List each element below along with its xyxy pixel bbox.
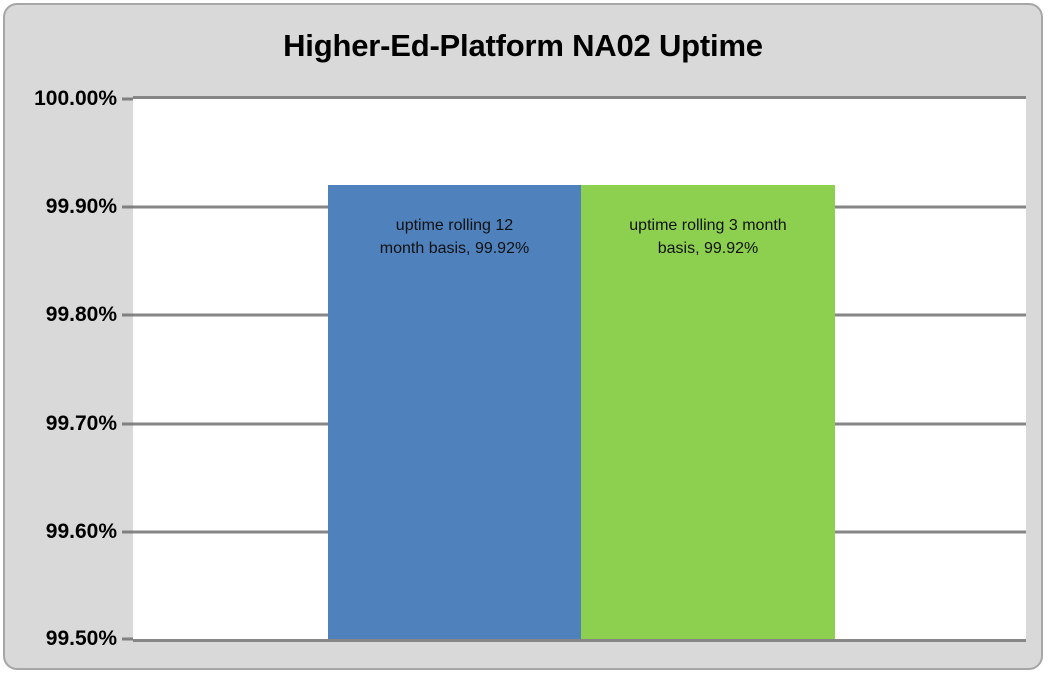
y-axis-tick-mark	[122, 638, 133, 641]
plot-area: uptime rolling 12 month basis, 99.92% up…	[133, 96, 1026, 642]
chart-title: Higher-Ed-Platform NA02 Uptime	[5, 28, 1041, 64]
y-axis-tick-label: 99.90%	[7, 195, 117, 219]
y-axis-tick-mark	[122, 314, 133, 317]
y-axis-tick-mark	[122, 206, 133, 209]
y-axis-tick-label: 99.80%	[7, 303, 117, 327]
bar-uptime-rolling-3-month[interactable]: uptime rolling 3 month basis, 99.92%	[581, 185, 835, 639]
y-axis-tick-label: 99.70%	[7, 412, 117, 436]
bar-uptime-rolling-12-month[interactable]: uptime rolling 12 month basis, 99.92%	[328, 185, 581, 639]
bar-data-label: uptime rolling 3 month basis, 99.92%	[581, 214, 835, 260]
y-axis-tick-label: 99.50%	[7, 627, 117, 651]
chart-frame: Higher-Ed-Platform NA02 Uptime 100.00% 9…	[3, 3, 1043, 670]
y-axis: 100.00% 99.90% 99.80% 99.70% 99.60% 99.5…	[5, 5, 117, 672]
y-axis-tick-mark	[122, 423, 133, 426]
y-axis-tick-mark	[122, 531, 133, 534]
y-axis-tick-label: 99.60%	[7, 520, 117, 544]
y-axis-tick-mark	[122, 98, 133, 101]
bar-data-label: uptime rolling 12 month basis, 99.92%	[328, 214, 581, 260]
y-axis-tick-label: 100.00%	[7, 87, 117, 111]
